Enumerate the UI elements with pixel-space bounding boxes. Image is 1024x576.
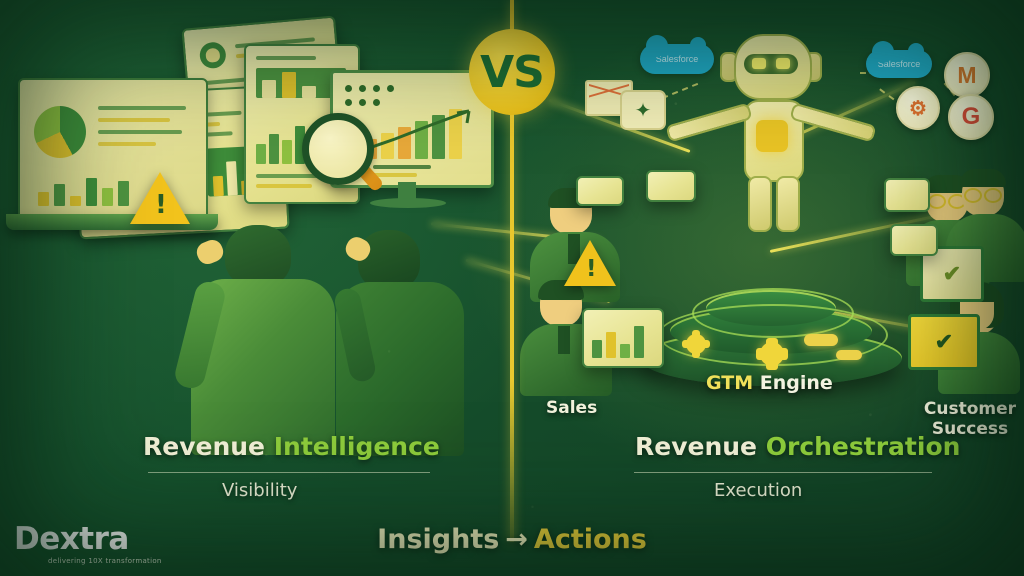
ai-robot [700,34,842,274]
dextra-logo[interactable]: Dextra delivering 10X transformation [14,524,162,565]
gtm-label-part-1: GTM [706,372,753,394]
warning-triangle-icon: ! [564,240,616,286]
salesforce-badge-2-label: Salesforce [878,59,921,69]
customer-success-label: Customer Success [920,400,1020,439]
confused-person-2 [320,230,470,456]
left-title-word-2: Intelligence [274,432,440,461]
gtm-engine-label: GTM Engine [706,372,833,394]
logo-wordmark: Dextra [14,524,162,555]
checkmark-glyph: ✔ [943,261,961,287]
avatar [199,41,227,69]
gear-icon [760,342,784,366]
right-panel-subtitle: Execution [714,480,802,501]
checkmark-card-2: ✔ [908,314,980,370]
hubspot-badge: ⚙ [896,86,940,130]
left-panel-subtitle: Visibility [222,480,297,501]
hubspot-badge-label: ⚙ [909,96,927,121]
checkmark-glyph: ✔ [935,329,953,355]
vs-label: VS [480,47,544,98]
arrow-right-icon: → [499,524,534,555]
mini-card-4 [646,170,696,202]
mailchimp-badge-label: M [957,62,976,89]
salesforce-badge-label: Salesforce [656,54,699,64]
sparkle-icon: ✦ [620,90,666,130]
search-icon [302,113,374,185]
monitor-foot [370,198,446,208]
warning-glyph: ! [586,258,594,281]
sales-laptop-screen [582,308,664,368]
cta-left-label: Insights [377,524,499,555]
left-title-word-1: Revenue [143,432,265,461]
left-title-rule [148,472,430,473]
mini-card-3 [576,176,624,206]
cta-right-label: Actions [534,524,647,555]
logo-word-part-1: De [14,521,60,557]
salesforce-badge-2: Salesforce [866,50,932,78]
gtm-label-part-2: Engine [760,372,833,394]
warning-triangle-icon [130,172,190,224]
right-panel-title: Revenue Orchestration [635,432,960,461]
mailchimp-badge: M [944,52,990,98]
logo-word-part-2: xtra [60,521,129,557]
mini-card-2 [890,224,938,256]
pie-chart [34,106,86,158]
vs-badge: VS [469,29,555,115]
right-title-word-1: Revenue [635,432,757,461]
right-title-rule [634,472,932,473]
cs-label-line-1: Customer [924,399,1016,419]
infographic-canvas: ✦ Salesforce Salesforce M ⚙ G [0,0,1024,576]
gear-icon [756,120,788,152]
google-badge: G [948,94,994,140]
logo-tagline: delivering 10X transformation [48,557,162,565]
cs-label-line-2: Success [932,419,1008,439]
google-badge-label: G [962,103,981,131]
mini-card-1 [884,178,930,212]
left-panel-title: Revenue Intelligence [143,432,440,461]
sales-label: Sales [546,398,597,418]
gear-icon [686,334,706,354]
